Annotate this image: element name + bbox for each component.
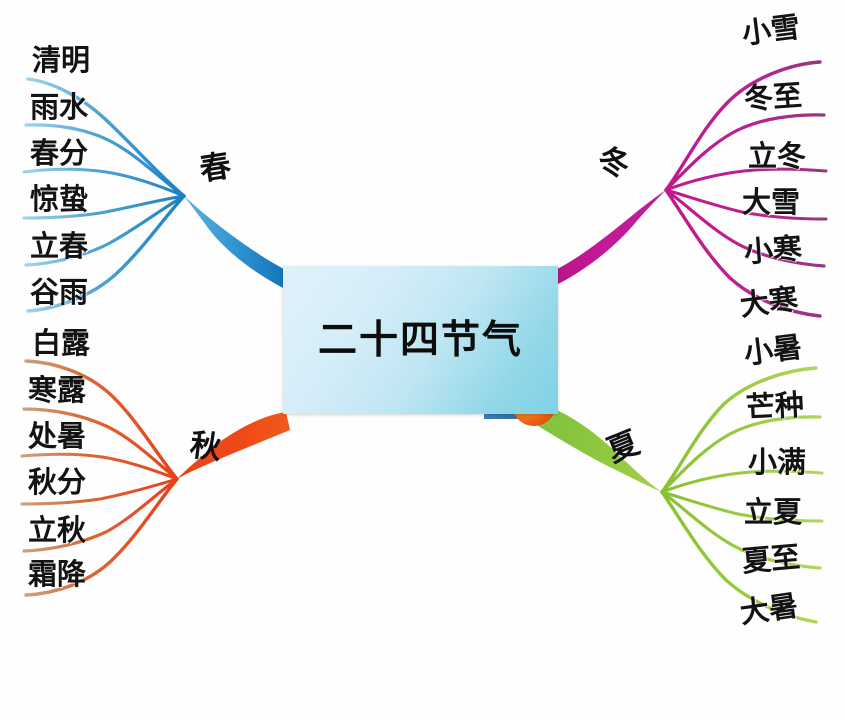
leaf-label-winter-2[interactable]: 冬至 [743,81,803,114]
leaf-label-spring-5[interactable]: 立春 [30,232,88,261]
leaf-label-spring-1[interactable]: 清明 [32,46,90,75]
leaf-label-winter-3[interactable]: 立冬 [748,142,806,171]
center-topic-box[interactable]: 二十四节气 [283,266,558,414]
leaf-label-autumn-4[interactable]: 秋分 [28,468,86,497]
leaf-label-autumn-5[interactable]: 立秋 [28,516,86,545]
leaf-label-spring-2[interactable]: 雨水 [30,93,88,122]
branch-label-autumn[interactable]: 秋 [188,430,223,465]
leaf-label-summer-2[interactable]: 芒种 [745,391,804,423]
leaf-label-winter-4[interactable]: 大雪 [742,188,800,217]
leaf-label-spring-3[interactable]: 春分 [30,139,88,168]
leaf-label-winter-5[interactable]: 小寒 [743,234,803,267]
mind-map-canvas: 二十四节气 春 秋 冬 夏 清明 雨水 春分 惊蛰 立春 谷雨 白露 寒露 处暑… [0,0,845,720]
leaf-label-summer-4[interactable]: 立夏 [744,498,802,527]
leaf-label-summer-5[interactable]: 夏至 [741,543,801,577]
branch-label-spring[interactable]: 春 [198,151,233,186]
leaf-label-summer-6[interactable]: 大暑 [738,591,799,628]
leaf-label-winter-6[interactable]: 大寒 [738,285,799,321]
leaf-label-summer-1[interactable]: 小暑 [742,333,803,369]
leaf-label-autumn-3[interactable]: 处暑 [28,422,86,451]
branch-winter-trunk [550,190,666,288]
leaf-label-winter-1[interactable]: 小雪 [740,13,801,49]
leaf-label-summer-3[interactable]: 小满 [748,448,806,477]
branch-spring-trunk [184,196,291,292]
page-title: 二十四节气 [283,266,558,414]
leaf-label-autumn-2[interactable]: 寒露 [28,376,86,405]
leaf-label-spring-4[interactable]: 惊蛰 [30,185,88,214]
leaf-label-spring-6[interactable]: 谷雨 [30,278,88,307]
leaf-label-autumn-6[interactable]: 霜降 [28,560,86,589]
leaf-label-autumn-1[interactable]: 白露 [32,329,90,358]
